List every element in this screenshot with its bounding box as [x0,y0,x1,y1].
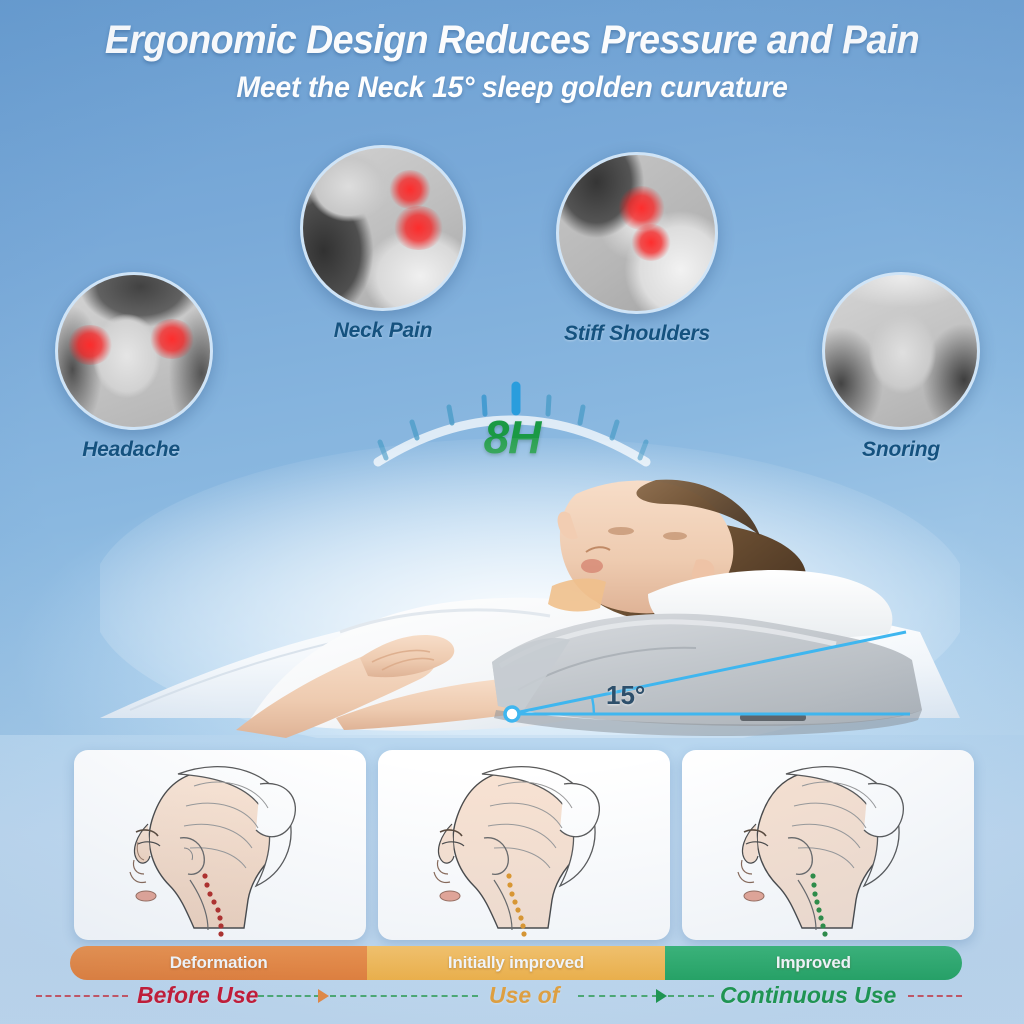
stage-segment-deformation: Deformation [70,946,367,980]
head-profile-icon [74,750,366,940]
head-profile-icon [682,750,974,940]
timeline-dash-5 [668,995,714,997]
header: Ergonomic Design Reduces Pressure and Pa… [0,0,1024,105]
snoring-photo-icon [822,272,980,430]
timeline-dash-6 [908,995,962,997]
timeline-dash-2 [258,995,320,997]
timeline-label-before-use: Before Use [137,982,258,1009]
improvement-stage-bar: Deformation Initially improved Improved [70,946,962,980]
timeline-arrow-2-icon [656,989,667,1003]
page-subtitle: Meet the Neck 15° sleep golden curvature [26,71,999,105]
symptom-stiff-shoulders-label: Stiff Shoulders [556,322,718,346]
headache-photo-icon [55,272,213,430]
comparison-panel-initially-improved [378,750,670,940]
symptom-stiff-shoulders: Stiff Shoulders [556,152,718,346]
timeline-dash-3 [330,995,478,997]
timeline-dash-1 [36,995,128,997]
stage-segment-initially-improved: Initially improved [367,946,664,980]
usage-timeline: Before Use Use of Continuous Use [0,982,1024,1022]
infographic-root: Ergonomic Design Reduces Pressure and Pa… [0,0,1024,1024]
symptom-neck-pain: Neck Pain [300,145,466,343]
page-title: Ergonomic Design Reduces Pressure and Pa… [31,18,994,63]
hero-sleeping-woman-photo: 15° [100,418,960,738]
pillow-angle-label: 15° [606,680,645,711]
timeline-label-use-of: Use of [489,982,559,1009]
neck-pain-photo-icon [300,145,466,311]
comparison-panel-improved [682,750,974,940]
timeline-arrow-1-icon [318,989,329,1003]
head-profile-icon [378,750,670,940]
comparison-panel-deformation [74,750,366,940]
timeline-dash-4 [578,995,658,997]
stage-segment-improved: Improved [665,946,962,980]
symptom-neck-pain-label: Neck Pain [300,319,466,343]
stiff-shoulders-photo-icon [556,152,718,314]
timeline-label-continuous-use: Continuous Use [720,982,896,1009]
